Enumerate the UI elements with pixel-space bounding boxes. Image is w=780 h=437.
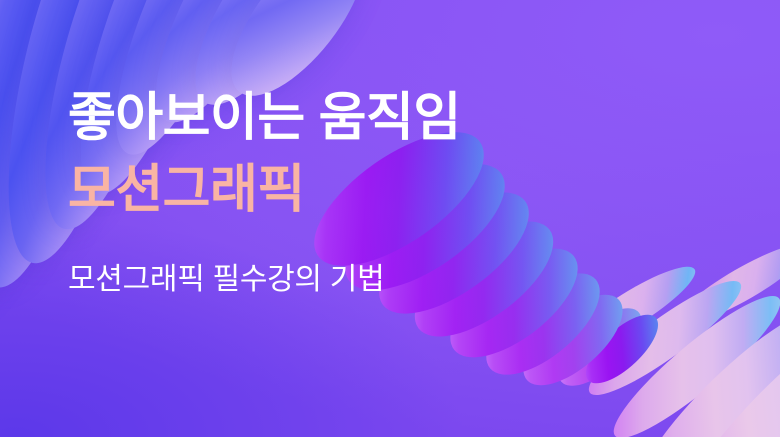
- title-line-2: 모션그래픽: [68, 154, 461, 226]
- title-line-1: 좋아보이는 움직임: [68, 82, 461, 154]
- banner-subtitle: 모션그래픽 필수강의 기법: [68, 258, 384, 302]
- banner-title: 좋아보이는 움직임 모션그래픽: [68, 82, 461, 226]
- text-layer: 좋아보이는 움직임 모션그래픽 모션그래픽 필수강의 기법: [0, 0, 780, 437]
- motion-graphics-promo-banner: 좋아보이는 움직임 모션그래픽 모션그래픽 필수강의 기법: [0, 0, 780, 437]
